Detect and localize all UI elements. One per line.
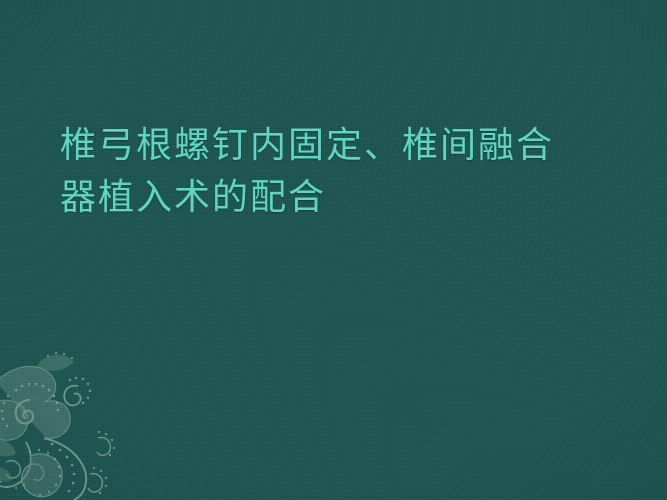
presentation-slide: 椎弓根螺钉内固定、椎间融合 器植入术的配合 — [0, 0, 667, 500]
slide-title-line-2: 器植入术的配合 — [60, 172, 620, 224]
floral-paisley-ornament — [0, 346, 186, 500]
slide-title: 椎弓根螺钉内固定、椎间融合 器植入术的配合 — [60, 120, 620, 224]
slide-title-line-1: 椎弓根螺钉内固定、椎间融合 — [60, 120, 620, 172]
